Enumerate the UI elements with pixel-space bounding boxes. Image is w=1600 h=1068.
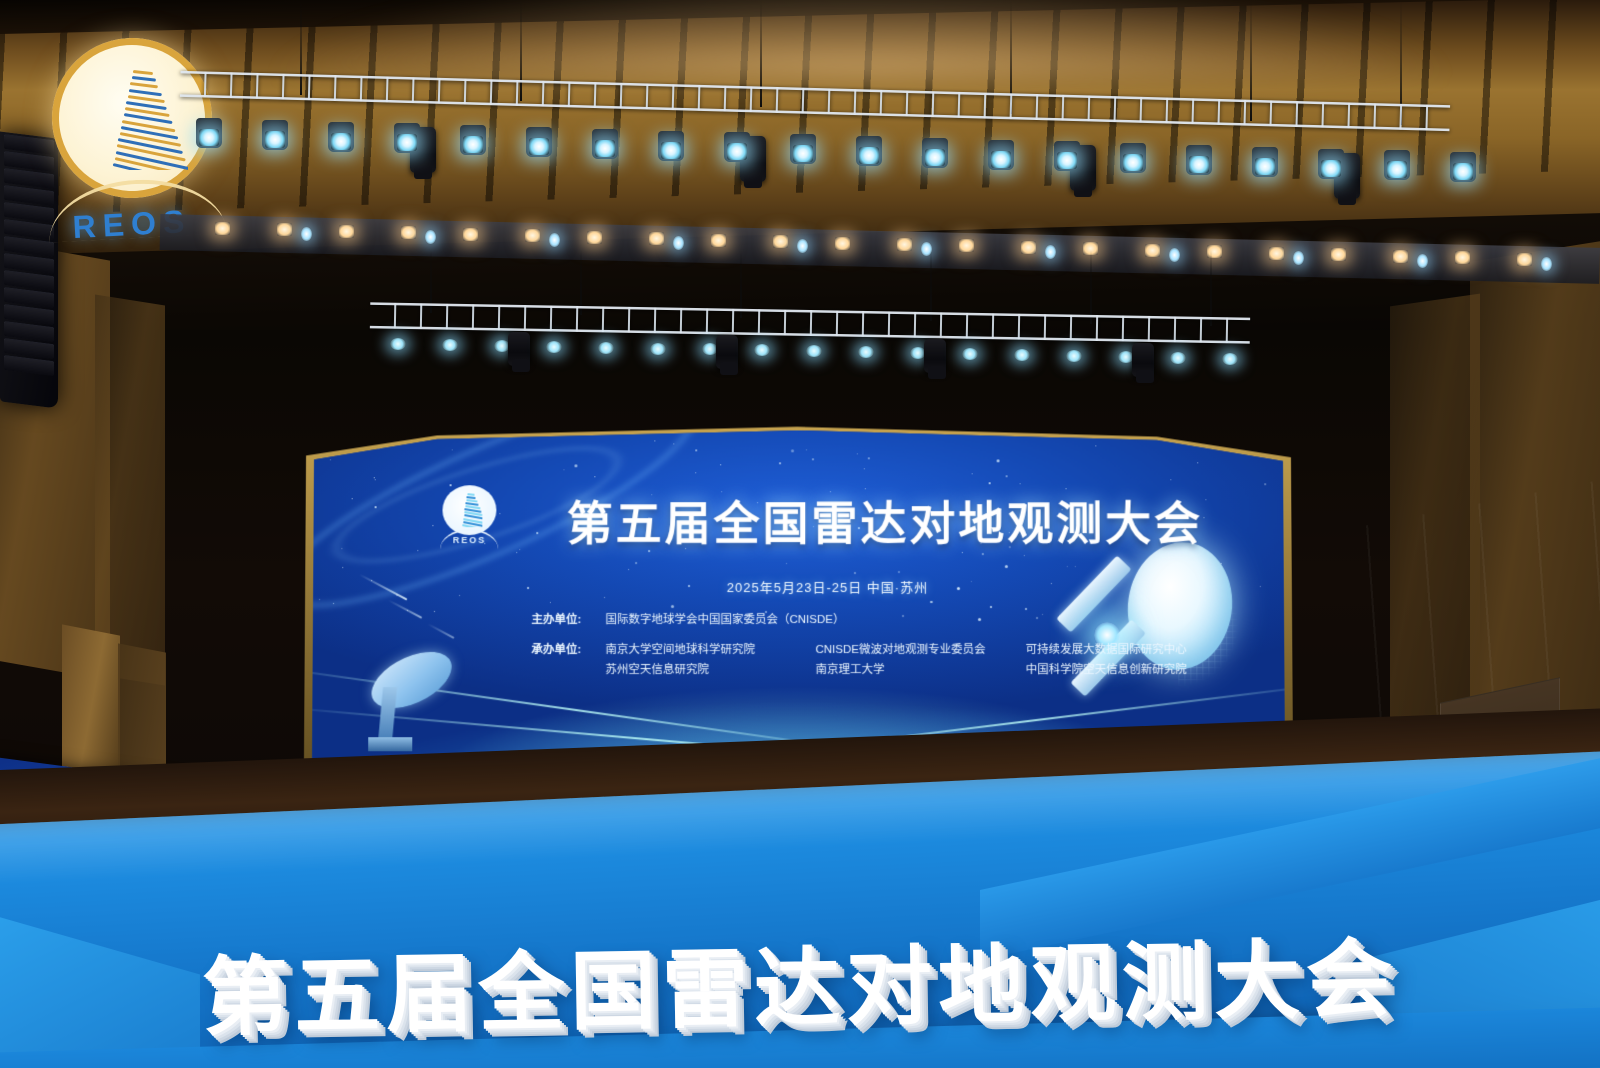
- par-stage-light: [394, 123, 420, 153]
- ceiling-downlight: [587, 231, 602, 244]
- par-stage-light: [856, 136, 882, 166]
- par-stage-light: [1186, 145, 1212, 175]
- par-stage-light: [988, 140, 1014, 170]
- par-stage-light: [196, 118, 222, 148]
- screen-date-location: 2025年5月23日-25日 中国·苏州: [727, 577, 928, 596]
- host-name: 南京理工大学: [815, 660, 1025, 680]
- ceiling-glow: [260, 0, 1460, 80]
- truss-spot-light: [1014, 349, 1030, 361]
- wood-pillar-left-inner: [95, 294, 165, 685]
- ceiling-downlight: [525, 229, 540, 242]
- screen-organizers: 主办单位: 国际数字地球学会中国国家委员会（CNISDE） 承办单位: 南京大学…: [531, 610, 1258, 680]
- truss-spot-light: [442, 339, 458, 351]
- truss-spot-light: [962, 348, 978, 360]
- host-name: 南京大学空间地球科学研究院: [605, 640, 815, 660]
- par-stage-light: [526, 127, 552, 157]
- ceiling-downlight: [339, 225, 354, 238]
- truss-spot-light: [390, 338, 406, 350]
- ceiling-downlight-blue: [1417, 254, 1428, 268]
- organizer-label: 主办单位:: [531, 610, 605, 630]
- screen-reos-logo: REOS: [439, 485, 501, 551]
- par-stage-light: [592, 129, 618, 159]
- ceiling-downlight: [897, 238, 912, 251]
- organizer-name: 国际数字地球学会中国国家委员会（CNISDE）: [605, 610, 844, 630]
- par-stage-light: [1318, 149, 1344, 179]
- truss-spot-light: [598, 342, 614, 354]
- ceiling-downlight: [215, 222, 230, 235]
- ceiling-downlight-blue: [1169, 248, 1180, 262]
- moving-head-light: [1132, 343, 1154, 377]
- host-name: CNISDE微波对地观测专业委员会: [815, 640, 1025, 660]
- par-stage-light: [460, 125, 486, 155]
- par-stage-light: [658, 131, 684, 161]
- ceiling-downlight: [1269, 247, 1284, 260]
- ceiling-downlight: [835, 237, 850, 250]
- par-stage-light: [922, 138, 948, 168]
- par-stage-light: [262, 120, 288, 150]
- host-label: 承办单位:: [531, 640, 605, 660]
- stage-front-title: 第五届全国雷达对地观测大会: [99, 907, 1501, 1054]
- par-stage-light: [1252, 147, 1278, 177]
- ceiling-downlight: [959, 239, 974, 252]
- par-stage-light: [1120, 143, 1146, 173]
- ceiling-downlight: [277, 223, 292, 236]
- ceiling-downlight: [1021, 241, 1036, 254]
- ceiling-downlight: [1145, 244, 1160, 257]
- truss-hang-cable: [1090, 250, 1092, 324]
- truss-spot-light: [1066, 350, 1082, 362]
- par-stage-light: [1384, 150, 1410, 180]
- host-name: 中国科学院空天信息创新研究院: [1026, 660, 1258, 680]
- ceiling-downlight-blue: [1293, 251, 1304, 265]
- screen-reos-wordmark: REOS: [439, 535, 501, 545]
- ceiling-downlight: [1331, 248, 1346, 261]
- truss-spot-light: [1222, 353, 1238, 365]
- par-stage-light: [1450, 152, 1476, 182]
- ceiling-downlight: [1455, 251, 1470, 264]
- ceiling-downlight-blue: [797, 239, 808, 253]
- reos-radar-fan-icon: [78, 62, 188, 170]
- host-name: 苏州空天信息研究院: [605, 660, 815, 680]
- par-stage-light: [724, 132, 750, 162]
- truss-hang-cable: [930, 250, 932, 321]
- ceiling-downlight: [649, 232, 664, 245]
- auditorium-stage-photo: 安全出口 消防 请勿吸烟 REOS: [0, 0, 1600, 1068]
- ceiling-downlight: [711, 234, 726, 247]
- truss-spot-light: [650, 343, 666, 355]
- moving-head-light: [508, 332, 530, 366]
- ceiling-downlight: [1393, 250, 1408, 263]
- host-name: 可持续发展大数据国际研究中心: [1026, 640, 1258, 660]
- screen-title: 第五届全国雷达对地观测大会: [567, 487, 1268, 553]
- ceiling-downlight-blue: [1541, 257, 1552, 271]
- truss-spot-light: [1170, 352, 1186, 364]
- ground-radar-dish-graphic: [350, 653, 471, 763]
- moving-head-light: [924, 339, 946, 373]
- ceiling-downlight: [401, 226, 416, 239]
- ceiling-downlight: [463, 228, 478, 241]
- ceiling-downlight: [773, 235, 788, 248]
- reos-hall-sign: REOS: [52, 38, 212, 198]
- line-array-speaker: [0, 131, 58, 408]
- par-stage-light: [328, 122, 354, 152]
- ceiling-downlight-blue: [1045, 245, 1056, 259]
- truss-spot-light: [546, 341, 562, 353]
- par-stage-light: [1054, 141, 1080, 171]
- par-stage-light: [790, 134, 816, 164]
- moving-head-light: [716, 335, 738, 369]
- ceiling-downlight: [1517, 253, 1532, 266]
- truss-hang-cable: [1210, 250, 1212, 326]
